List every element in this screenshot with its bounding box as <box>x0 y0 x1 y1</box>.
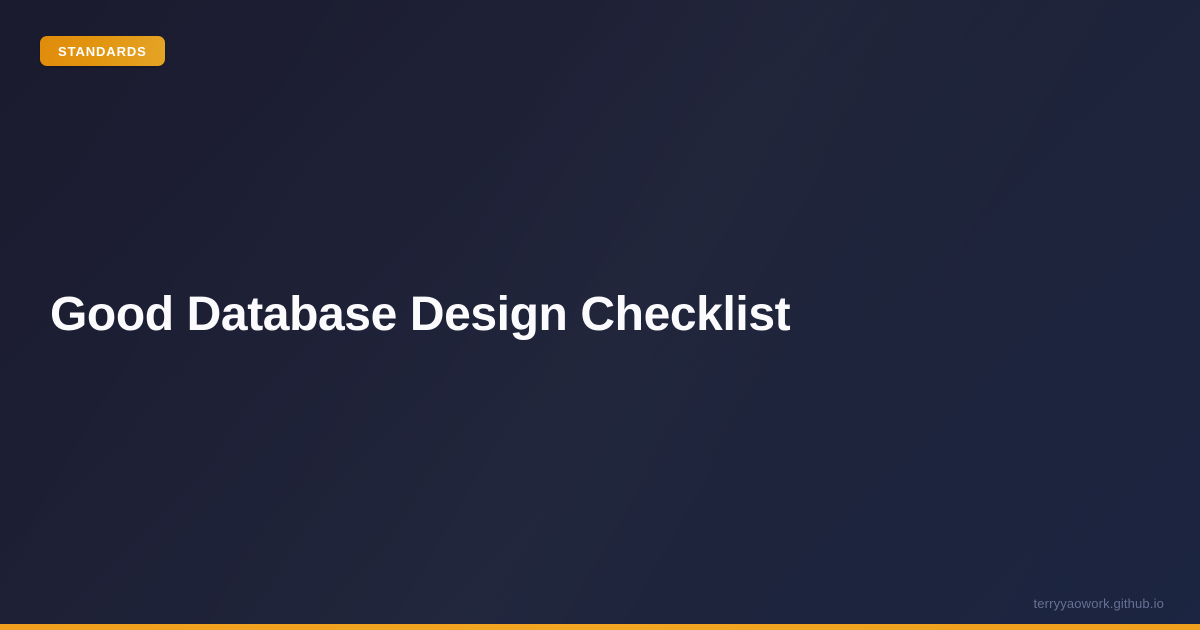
og-card: STANDARDS Good Database Design Checklist… <box>0 0 1200 630</box>
site-handle: terryyaowork.github.io <box>1034 597 1164 610</box>
og-card-content: STANDARDS Good Database Design Checklist… <box>0 0 1200 630</box>
page-title: Good Database Design Checklist <box>50 287 1070 344</box>
headline-block: Good Database Design Checklist <box>50 0 1140 630</box>
bottom-accent-bar <box>0 624 1200 630</box>
